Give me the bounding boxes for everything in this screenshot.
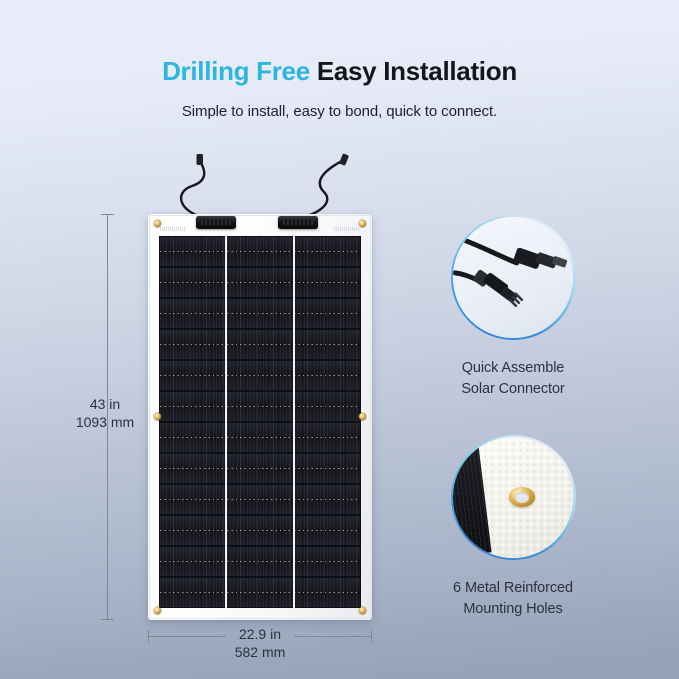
header: Drilling Free Easy Installation Simple t… <box>0 0 679 120</box>
solar-cell <box>294 268 360 297</box>
mc4-connector-icon <box>453 217 574 338</box>
solar-cell <box>227 237 293 266</box>
panel-microprint-left <box>160 227 186 231</box>
title-rest-text: Easy Installation <box>317 56 517 86</box>
connector-tip-right <box>339 153 349 166</box>
solar-cell <box>160 299 226 328</box>
callout-grommet-line2: Mounting Holes <box>398 599 628 620</box>
solar-cell <box>227 268 293 297</box>
title-accent-text: Drilling Free <box>162 56 310 86</box>
solar-cell <box>227 330 293 359</box>
junction-box <box>196 216 236 229</box>
height-inches: 43 in <box>55 396 155 414</box>
solar-cell <box>160 454 226 483</box>
solar-cell <box>294 237 360 266</box>
cell-column-divider <box>293 236 295 608</box>
solar-cell <box>294 423 360 452</box>
callout-solar-connector: Quick Assemble Solar Connector <box>398 215 628 399</box>
title-spacer <box>310 56 317 86</box>
width-millimeters: 582 mm <box>235 644 286 660</box>
panel-microprint-right <box>334 227 360 231</box>
callout-photo-grommet <box>453 437 574 558</box>
metal-grommet-icon <box>509 487 535 507</box>
height-dimension-label: 43 in 1093 mm <box>55 396 155 432</box>
solar-cell <box>227 423 293 452</box>
solar-cell <box>294 454 360 483</box>
solar-cell <box>160 330 226 359</box>
callout-circle-grommet <box>451 435 576 560</box>
solar-cell <box>160 268 226 297</box>
width-dimension-label: 22.9 in 582 mm <box>148 626 372 662</box>
solar-cell <box>160 516 226 545</box>
connector-tip-left <box>197 154 204 165</box>
solar-cell <box>227 485 293 514</box>
solar-cell <box>227 578 293 607</box>
solar-cell <box>160 547 226 576</box>
solar-cell <box>160 392 226 421</box>
page-subtitle: Simple to install, easy to bond, quick t… <box>0 103 679 120</box>
dimension-tick-top <box>101 214 114 215</box>
cell-column-divider <box>225 236 227 608</box>
height-millimeters: 1093 mm <box>55 414 155 432</box>
panel-laminate-body <box>148 214 372 620</box>
mounting-grommet <box>154 413 161 420</box>
solar-cell <box>227 516 293 545</box>
dimension-tick-bottom <box>101 619 114 620</box>
solar-cell <box>294 485 360 514</box>
solar-cell-matrix <box>159 236 361 608</box>
callout-ring <box>451 215 576 340</box>
mounting-grommet <box>359 220 366 227</box>
junction-box <box>278 216 318 229</box>
callout-connector-line2: Solar Connector <box>398 379 628 400</box>
mounting-grommet <box>154 220 161 227</box>
solar-cell <box>227 547 293 576</box>
callout-ring <box>451 435 576 560</box>
solar-panel-assembly <box>148 152 373 622</box>
mounting-grommet <box>359 413 366 420</box>
solar-cell <box>294 361 360 390</box>
solar-cell <box>227 361 293 390</box>
solar-cell <box>160 423 226 452</box>
solar-cell <box>294 330 360 359</box>
callout-circle-connector <box>451 215 576 340</box>
callout-grommet-line1: 6 Metal Reinforced <box>398 578 628 599</box>
solar-cell <box>160 361 226 390</box>
width-inches: 22.9 in <box>239 626 281 642</box>
solar-cell <box>294 547 360 576</box>
solar-cell <box>227 392 293 421</box>
page-title: Drilling Free Easy Installation <box>0 57 679 86</box>
solar-cell <box>160 237 226 266</box>
solar-cell <box>227 454 293 483</box>
callout-photo-connector <box>453 217 574 338</box>
solar-cell <box>160 578 226 607</box>
solar-cell <box>294 516 360 545</box>
callout-connector-label: Quick Assemble Solar Connector <box>398 358 628 399</box>
mounting-grommet <box>359 607 366 614</box>
mounting-grommet <box>154 607 161 614</box>
solar-cell <box>294 299 360 328</box>
callout-grommet-label: 6 Metal Reinforced Mounting Holes <box>398 578 628 619</box>
solar-cell <box>294 578 360 607</box>
solar-cell <box>227 299 293 328</box>
solar-cell <box>294 392 360 421</box>
callout-mounting-holes: 6 Metal Reinforced Mounting Holes <box>398 435 628 619</box>
callout-connector-line1: Quick Assemble <box>398 358 628 379</box>
solar-cell <box>160 485 226 514</box>
